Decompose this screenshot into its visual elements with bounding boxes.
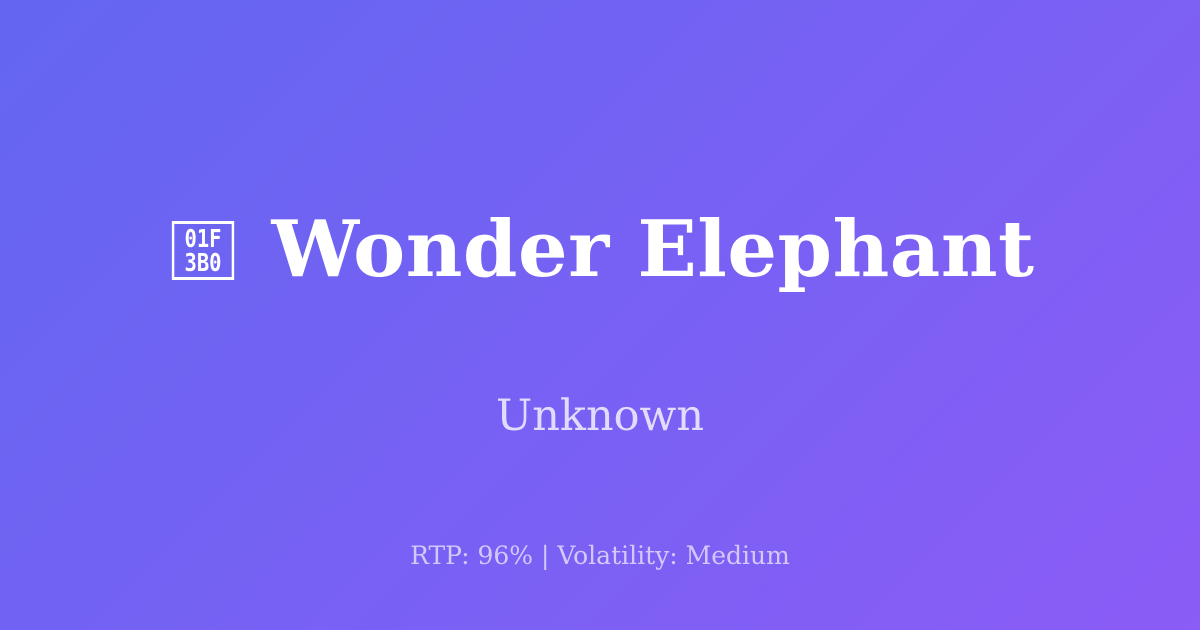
game-provider-subtitle: Unknown [496, 395, 704, 438]
slot-machine-icon-codepoint-bottom: 3B0 [185, 251, 222, 275]
game-preview-card: 01F 3B0 Wonder Elephant Unknown RTP: 96%… [0, 0, 1200, 630]
title-row: 01F 3B0 Wonder Elephant [165, 158, 1034, 341]
game-stats-footer: RTP: 96% | Volatility: Medium [0, 543, 1200, 568]
game-title: Wonder Elephant [271, 211, 1034, 289]
slot-machine-icon-codepoint-top: 01F [185, 227, 222, 251]
card-hero-block: 01F 3B0 Wonder Elephant Unknown [165, 158, 1034, 438]
slot-machine-icon: 01F 3B0 [172, 221, 234, 280]
